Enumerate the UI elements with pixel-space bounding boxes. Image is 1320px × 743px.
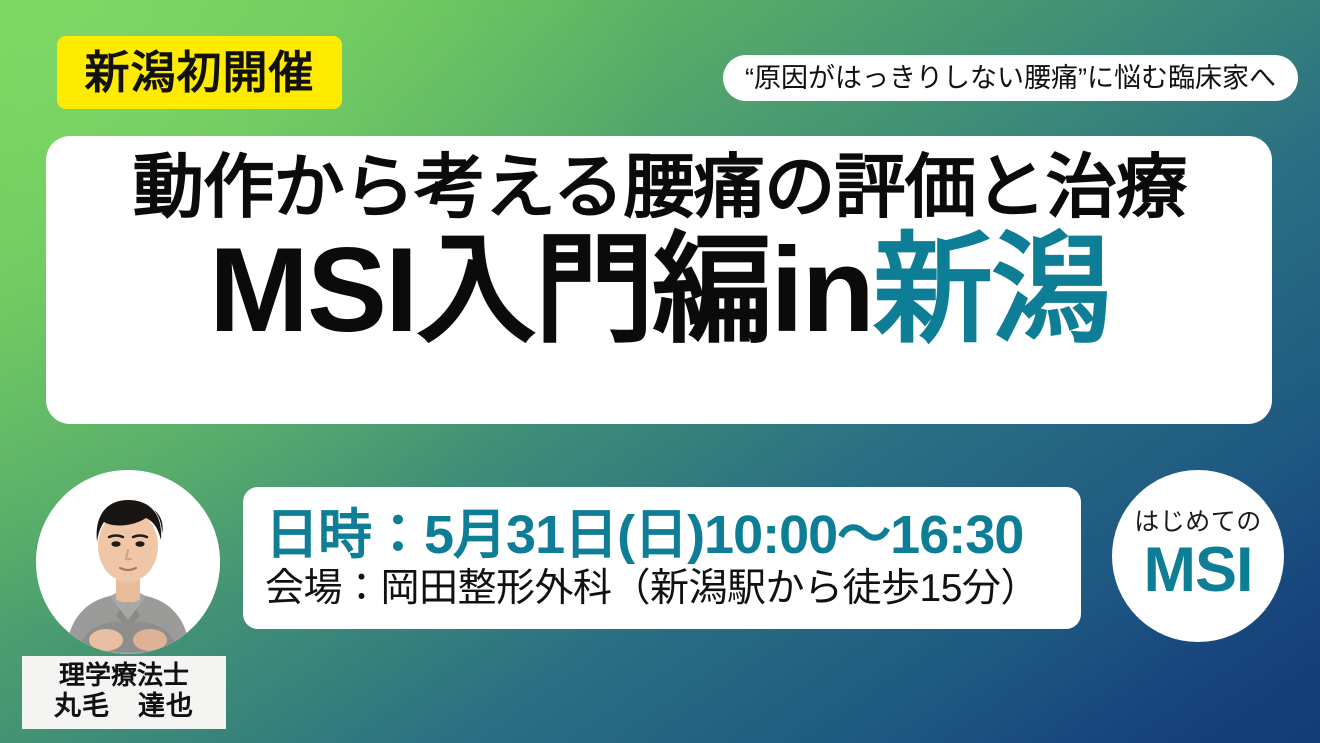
presenter-role: 理学療法士 — [22, 661, 226, 691]
msi-logo-top-text: はじめての — [1134, 510, 1262, 535]
event-venue: 会場：岡田整形外科（新潟駅から徒歩15分） — [265, 568, 1061, 611]
tagline-pill: “原因がはっきりしない腰痛”に悩む臨床家へ — [723, 55, 1298, 101]
portrait-illustration — [36, 470, 220, 654]
presenter-caption: 理学療法士 丸毛 達也 — [22, 656, 226, 729]
title-card: 動作から考える腰痛の評価と治療 MSI入門編in新潟 — [46, 136, 1272, 424]
first-time-badge-label: 新潟初開催 — [84, 50, 314, 95]
tagline-text: “原因がはっきりしない腰痛”に悩む臨床家へ — [745, 65, 1276, 92]
event-datetime: 日時：5月31日(日)10:00〜16:30 — [265, 507, 1061, 564]
first-time-badge: 新潟初開催 — [57, 36, 342, 109]
headline-accent-part: 新潟 — [873, 223, 1109, 357]
presenter-portrait — [36, 470, 220, 654]
event-info-card: 日時：5月31日(日)10:00〜16:30 会場：岡田整形外科（新潟駅から徒歩… — [243, 487, 1081, 629]
seminar-subtitle: 動作から考える腰痛の評価と治療 — [132, 150, 1186, 226]
msi-logo: はじめての MSI — [1112, 470, 1284, 642]
msi-logo-main-text: MSI — [1143, 539, 1252, 602]
promo-banner: 新潟初開催 “原因がはっきりしない腰痛”に悩む臨床家へ 動作から考える腰痛の評価… — [0, 0, 1320, 743]
seminar-headline: MSI入門編in新潟 — [209, 228, 1109, 353]
headline-black-part: MSI入門編in — [209, 223, 873, 357]
presenter-name: 丸毛 達也 — [22, 691, 226, 722]
